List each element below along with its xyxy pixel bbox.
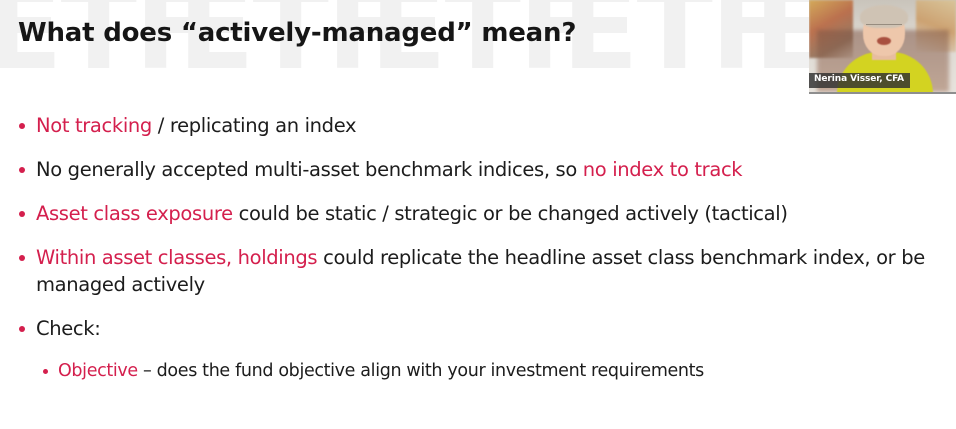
bullet-body-text: / replicating an index [152, 114, 356, 137]
bullet-highlight-text: Within asset classes, holdings [36, 246, 317, 269]
speaker-name-label: Nerina Visser, CFA [809, 73, 910, 88]
bullet-dot-icon [19, 123, 25, 129]
bullet-item: Check: [0, 315, 956, 342]
bullet-body-text: could be static / strategic or be change… [233, 202, 788, 225]
bullet-item: Within asset classes, holdings could rep… [0, 244, 956, 298]
bullet-dot-icon [43, 369, 48, 374]
bullet-body-text: – does the fund objective align with you… [138, 361, 704, 381]
watermark-word: ETF [562, 0, 785, 86]
page-title: What does “actively-managed” mean? [18, 18, 576, 48]
speaker-mouth [877, 37, 891, 45]
bullet-item: No generally accepted multi-asset benchm… [0, 156, 956, 183]
bullet-highlight-text: no index to track [583, 158, 743, 181]
bullet-dot-icon [19, 211, 25, 217]
bullet-dot-icon [19, 167, 25, 173]
bullet-highlight-text: Not tracking [36, 114, 152, 137]
bullet-item: Not tracking / replicating an index [0, 112, 956, 139]
speaker-video-tile[interactable]: Nerina Visser, CFA [809, 0, 956, 94]
bullet-dot-icon [19, 326, 25, 332]
presentation-slide: ETFETFETFETFETFETFETF What does “activel… [0, 0, 956, 429]
bullet-item: Asset class exposure could be static / s… [0, 200, 956, 227]
bullet-item: Objective – does the fund objective alig… [0, 359, 956, 384]
bullet-list: Not tracking / replicating an indexNo ge… [0, 112, 956, 392]
bullet-dot-icon [19, 255, 25, 261]
glasses-icon [866, 24, 902, 32]
bullet-highlight-text: Asset class exposure [36, 202, 233, 225]
bullet-body-text: Check: [36, 317, 100, 340]
bullet-highlight-text: Objective [58, 361, 138, 381]
bullet-body-text: No generally accepted multi-asset benchm… [36, 158, 583, 181]
watermark-word: ETF [0, 0, 17, 86]
